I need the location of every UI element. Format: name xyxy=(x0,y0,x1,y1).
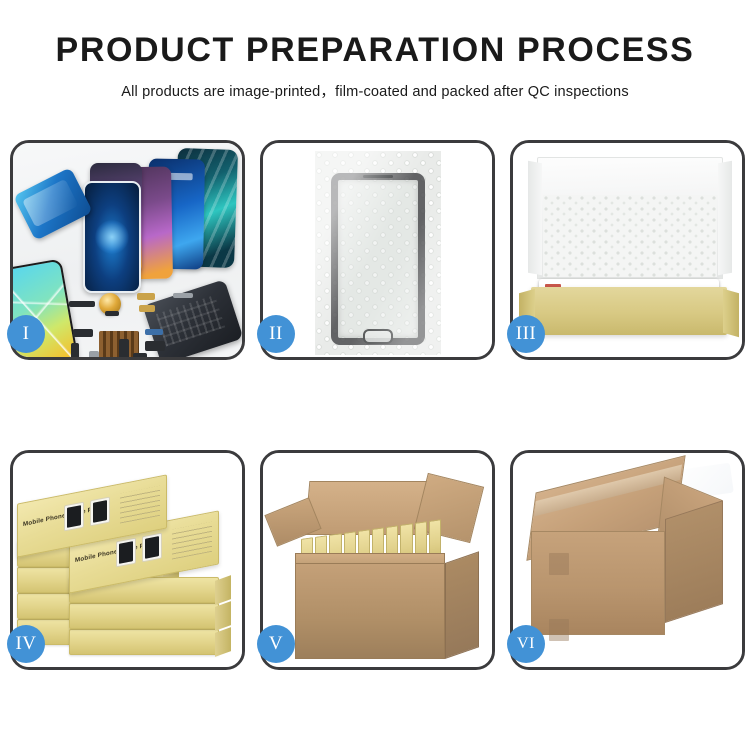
battery-contact-part xyxy=(145,329,163,335)
carton-front-panel xyxy=(295,563,445,659)
bubble-wrap-sheet xyxy=(315,151,441,355)
step-badge-2: II xyxy=(257,315,295,353)
step-5-image xyxy=(263,453,492,667)
connector-part-2 xyxy=(71,343,79,357)
box-spec-lines-front xyxy=(172,522,212,560)
carton-hand-hole-top xyxy=(549,553,569,575)
step-6-image xyxy=(513,453,742,667)
retail-box-front-1 xyxy=(69,629,219,655)
carton-hand-hole-bottom xyxy=(549,619,569,641)
box-window-top-2 xyxy=(90,497,110,527)
step-3-image xyxy=(513,143,742,357)
box-window-front-1 xyxy=(116,538,136,568)
connector-part-1 xyxy=(73,329,93,337)
carton-side-panel xyxy=(445,551,479,659)
process-step-panel-5[interactable]: V xyxy=(260,450,495,670)
box-window-top-1 xyxy=(64,502,84,532)
step-4-image: Mobile Phone Spare Parts Mobile Phone Sp… xyxy=(13,453,242,667)
process-step-panel-6[interactable]: VI xyxy=(510,450,745,670)
process-step-panel-2[interactable]: II xyxy=(260,140,495,360)
sim-tray-part xyxy=(89,351,99,357)
process-step-grid: I II III xyxy=(10,140,745,670)
antenna-part xyxy=(105,311,119,316)
kraft-box-tray xyxy=(531,287,727,335)
page-title: PRODUCT PREPARATION PROCESS xyxy=(0,33,750,69)
page-header: PRODUCT PREPARATION PROCESS All products… xyxy=(0,0,750,101)
retail-box-stack: Mobile Phone Spare Parts Mobile Phone Sp… xyxy=(17,463,242,663)
vibrator-part xyxy=(133,353,147,357)
process-step-panel-3[interactable]: III xyxy=(510,140,745,360)
sealed-carton-side xyxy=(665,500,723,623)
step-badge-1: I xyxy=(7,315,45,353)
foam-padding xyxy=(543,195,717,277)
step-2-image xyxy=(263,143,492,357)
page-subtitle: All products are image-printed，film-coat… xyxy=(0,80,750,101)
retail-box-front-2 xyxy=(69,603,219,629)
step-badge-3: III xyxy=(507,315,545,353)
screwdriver-part xyxy=(173,293,193,298)
ribbon-cable-part xyxy=(119,339,129,357)
wrapped-phone-screen xyxy=(331,173,425,345)
step-badge-5: V xyxy=(257,625,295,663)
step-badge-6: VI xyxy=(507,625,545,663)
screen-protector-film xyxy=(13,167,93,241)
step-1-image xyxy=(13,143,242,357)
camera-module-part xyxy=(145,341,165,351)
process-step-panel-4[interactable]: Mobile Phone Spare Parts Mobile Phone Sp… xyxy=(10,450,245,670)
flex-cable-part-2 xyxy=(139,305,155,312)
process-step-panel-1[interactable]: I xyxy=(10,140,245,360)
speaker-part xyxy=(69,301,95,307)
step-badge-4: IV xyxy=(7,625,45,663)
flex-cable-part-1 xyxy=(137,293,155,300)
phone-front-screen xyxy=(83,181,141,293)
box-window-front-2 xyxy=(142,533,162,563)
box-spec-lines-top xyxy=(120,486,160,524)
